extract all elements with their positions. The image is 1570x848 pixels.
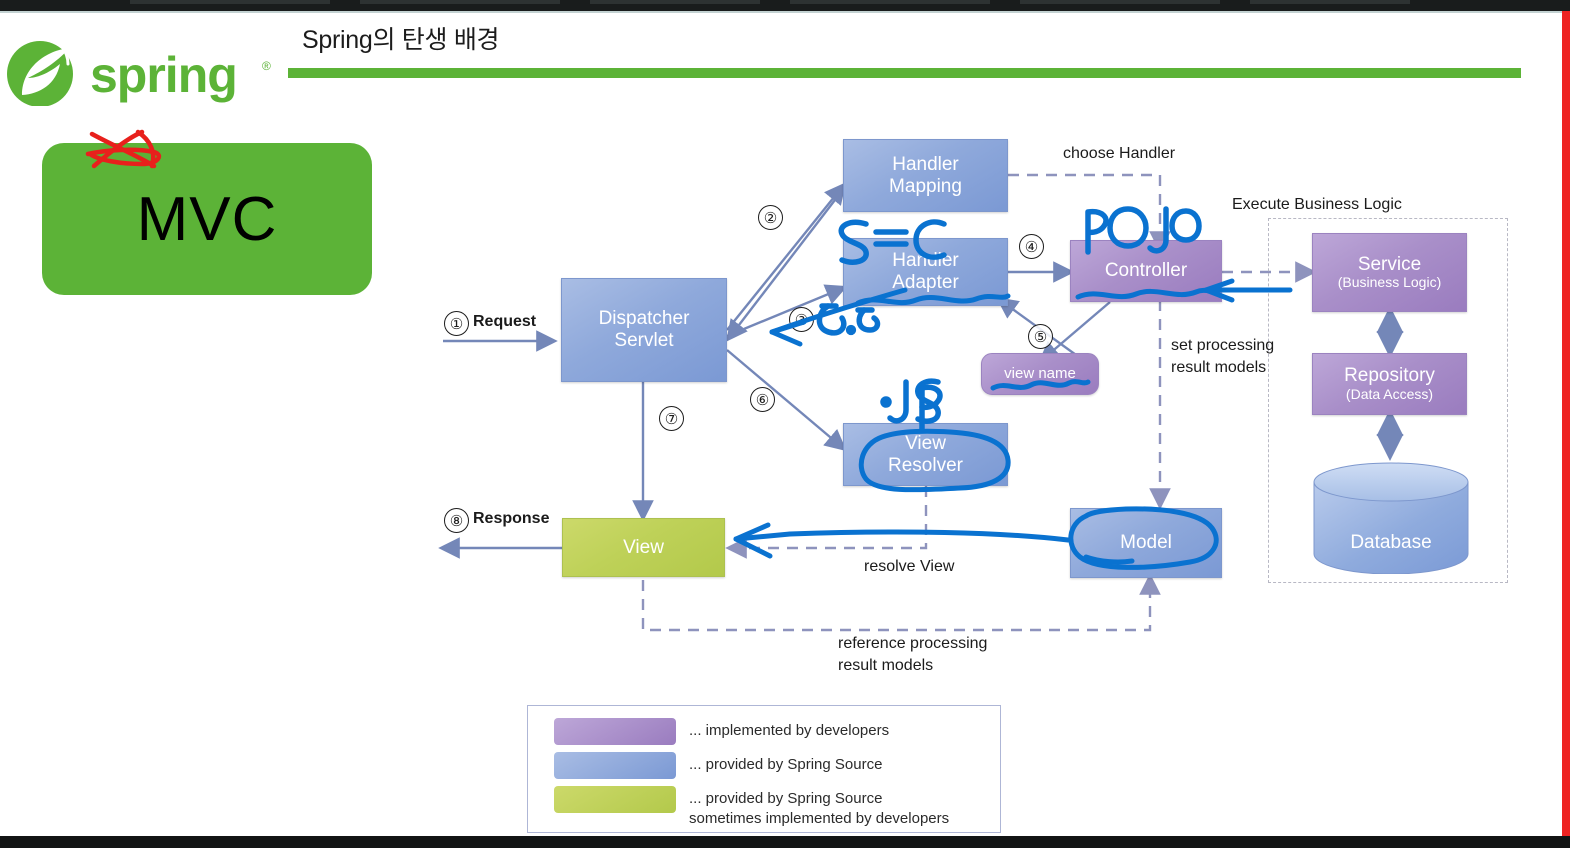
step-marker-2: ② <box>758 205 783 230</box>
node-label-line1: view name <box>1004 365 1076 382</box>
node-label-line1: Model <box>1120 532 1172 554</box>
legend-label: ... provided by Spring Source <box>689 752 882 775</box>
label-resolve-view: resolve View <box>864 556 954 578</box>
label-set-processing-result-models: set processing result models <box>1171 335 1274 378</box>
node-controller[interactable]: Controller <box>1070 240 1222 302</box>
mvc-callout-box: MVC <box>42 143 372 295</box>
legend-swatch-provided-by-spring-source <box>554 752 676 779</box>
node-database[interactable]: Database <box>1312 462 1470 574</box>
node-model[interactable]: Model <box>1070 508 1222 578</box>
node-label-line1: Controller <box>1105 260 1187 282</box>
spring-logo: spring ® <box>4 38 279 106</box>
node-label-line2: Adapter <box>892 272 959 294</box>
node-view-name[interactable]: view name <box>981 353 1099 395</box>
step-marker-6: ⑥ <box>750 387 775 412</box>
node-label-line2: (Business Logic) <box>1338 275 1442 291</box>
node-label-line1: View <box>905 433 946 455</box>
node-view[interactable]: View <box>562 518 725 577</box>
node-repository[interactable]: Repository (Data Access) <box>1312 353 1467 415</box>
mvc-callout-label: MVC <box>137 184 278 255</box>
node-label-line2: Resolver <box>888 455 963 477</box>
node-dispatcher-servlet[interactable]: Dispatcher Servlet <box>561 278 727 382</box>
legend-box: ... implemented by developers ... provid… <box>527 705 1001 833</box>
page-title: Spring의 탄생 배경 <box>302 20 499 56</box>
step-marker-7: ⑦ <box>659 406 684 431</box>
header-accent-rule <box>288 68 1521 78</box>
legend-swatch-implemented-by-developers <box>554 718 676 745</box>
node-label-line1: Handler <box>892 250 959 272</box>
step-marker-5: ⑤ <box>1028 324 1053 349</box>
right-red-edge-bar <box>1562 11 1570 836</box>
node-label-line1: Database <box>1350 532 1431 553</box>
step-marker-4: ④ <box>1019 234 1044 259</box>
legend-row: ... provided by Spring Source sometimes … <box>554 786 1000 828</box>
legend-label: ... provided by Spring Source sometimes … <box>689 786 949 828</box>
legend-row: ... implemented by developers <box>554 718 1000 745</box>
legend-row: ... provided by Spring Source <box>554 752 1000 779</box>
label-execute-business-logic: Execute Business Logic <box>1232 194 1402 216</box>
node-view-resolver[interactable]: View Resolver <box>843 423 1008 486</box>
node-label-line1: Service <box>1358 254 1421 276</box>
legend-swatch-provided-or-implemented <box>554 786 676 813</box>
node-label-line1: Dispatcher <box>599 308 690 330</box>
svg-text:®: ® <box>262 59 271 73</box>
svg-text:spring: spring <box>90 47 237 103</box>
step-marker-1: ① <box>444 311 469 336</box>
node-label-line2: Servlet <box>614 330 673 352</box>
label-response: Response <box>473 508 549 530</box>
bottom-chrome-bar <box>0 836 1570 848</box>
node-service[interactable]: Service (Business Logic) <box>1312 233 1467 312</box>
node-label-line1: View <box>623 537 664 559</box>
node-label-line2: Mapping <box>889 176 962 198</box>
step-marker-3: ③ <box>789 307 814 332</box>
label-reference-processing-result-models: reference processing result models <box>838 633 987 676</box>
node-handler-adapter[interactable]: Handler Adapter <box>843 238 1008 306</box>
node-label-line1: Handler <box>892 154 959 176</box>
slide-canvas: spring ® Spring의 탄생 배경 MVC <box>0 0 1570 848</box>
label-request: Request <box>473 311 536 333</box>
node-label-line1: Repository <box>1344 365 1435 387</box>
top-chrome-bar <box>0 0 1570 11</box>
node-handler-mapping[interactable]: Handler Mapping <box>843 139 1008 212</box>
label-choose-handler: choose Handler <box>1063 143 1175 165</box>
top-chrome-underline <box>0 11 1570 13</box>
legend-label: ... implemented by developers <box>689 718 889 741</box>
node-label-line2: (Data Access) <box>1346 387 1433 403</box>
step-marker-8: ⑧ <box>444 508 469 533</box>
